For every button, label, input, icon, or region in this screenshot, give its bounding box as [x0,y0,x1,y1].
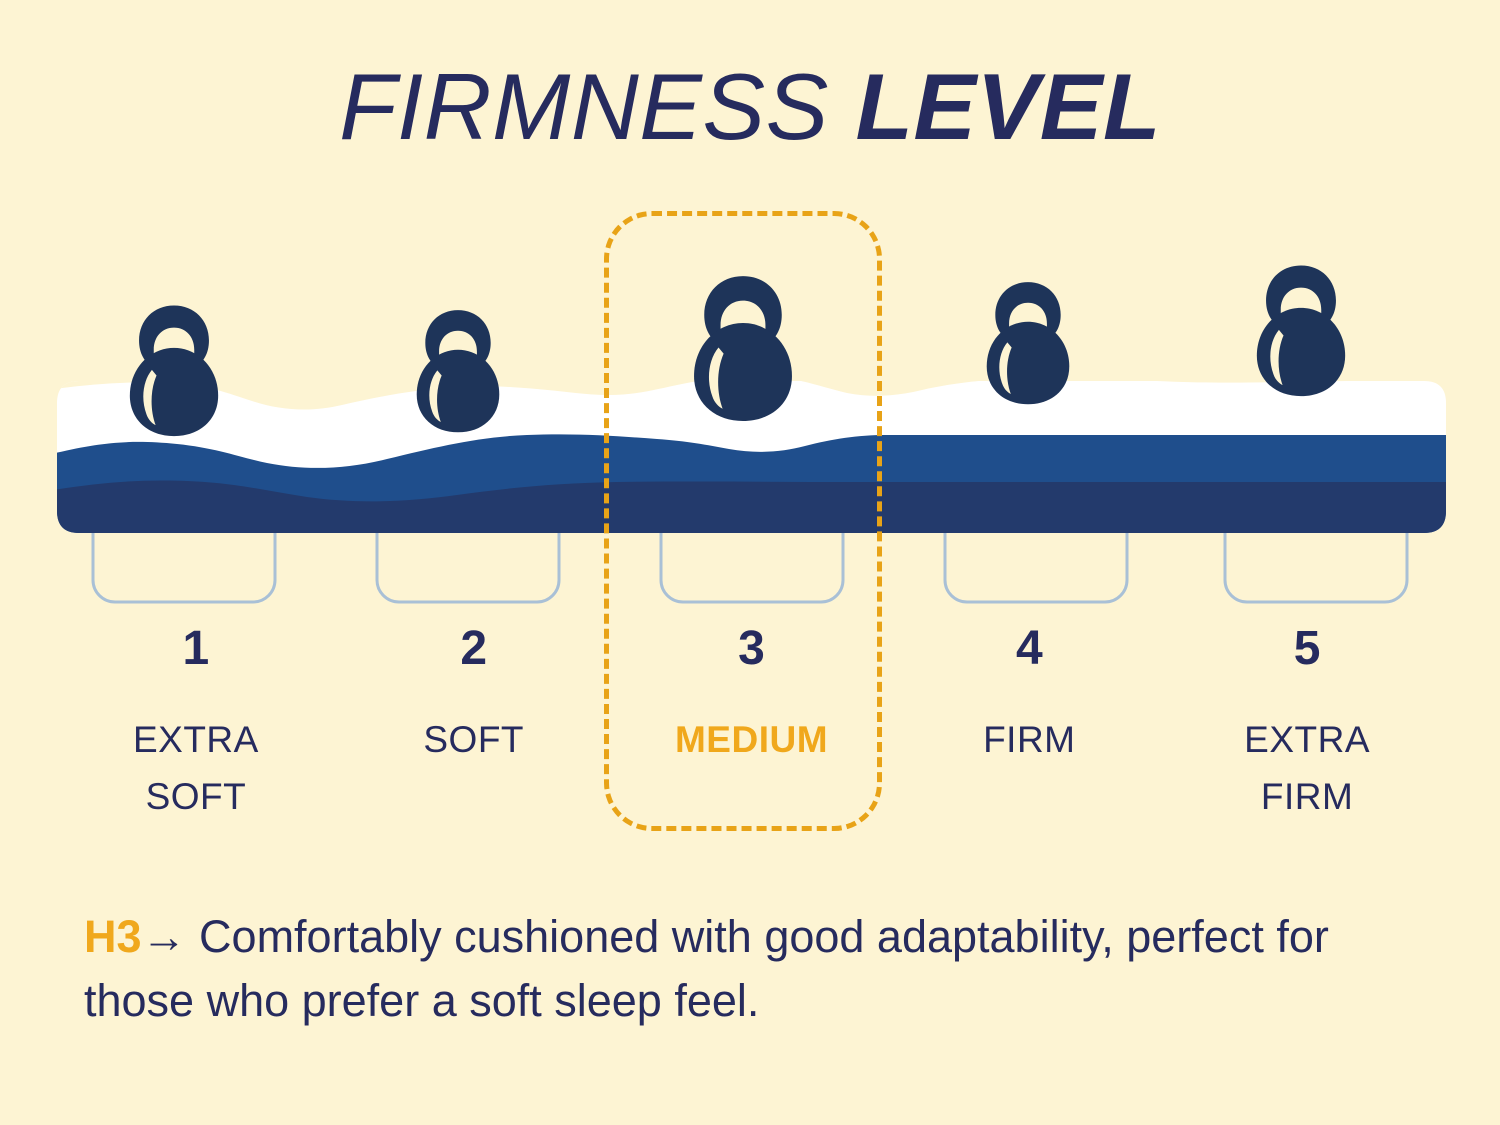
scale-number-2: 2 [335,625,613,673]
scale-label-4-line1: FIRM [890,711,1168,768]
scale-number-3: 3 [613,625,891,673]
scale-label-1-line2: SOFT [57,768,335,825]
scale-label-4: FIRM [890,711,1168,768]
scale-label-5-line2: FIRM [1168,768,1446,825]
scale-item-5[interactable]: 5 EXTRA FIRM [1168,625,1446,835]
scale-item-4[interactable]: 4 FIRM [890,625,1168,835]
mattress-graphic [57,255,1446,545]
title-part-bold: LEVEL [855,54,1160,159]
scale-label-5: EXTRA FIRM [1168,711,1446,826]
scale-number-5: 5 [1168,625,1446,673]
scale-item-2[interactable]: 2 SOFT [335,625,613,835]
scale-item-3[interactable]: 3 MEDIUM [613,625,891,835]
scale-item-1[interactable]: 1 EXTRA SOFT [57,625,335,835]
scale-label-2: SOFT [335,711,613,768]
support-brackets [57,533,1446,618]
mattress-bottom-layer [57,480,1446,545]
scale-label-2-line1: SOFT [335,711,613,768]
scale-label-1: EXTRA SOFT [57,711,335,826]
scale-number-1: 1 [57,625,335,673]
scale-number-4: 4 [890,625,1168,673]
description-text: Comfortably cushioned with good adaptabi… [84,911,1329,1026]
description-arrow: → [142,911,187,962]
scale-label-1-line1: EXTRA [57,711,335,768]
page-title: FIRMNESS LEVEL [0,58,1500,157]
firmness-description: H3→ Comfortably cushioned with good adap… [84,905,1424,1033]
description-tag: H3 [84,911,142,962]
firmness-scale: 1 EXTRA SOFT 2 SOFT 3 MEDIUM 4 FIRM [57,625,1446,835]
scale-label-5-line1: EXTRA [1168,711,1446,768]
firmness-level-infographic: FIRMNESS LEVEL [0,0,1500,1125]
scale-label-3-line1: MEDIUM [613,711,891,768]
title-part-light: FIRMNESS [339,54,829,159]
scale-label-3: MEDIUM [613,711,891,768]
